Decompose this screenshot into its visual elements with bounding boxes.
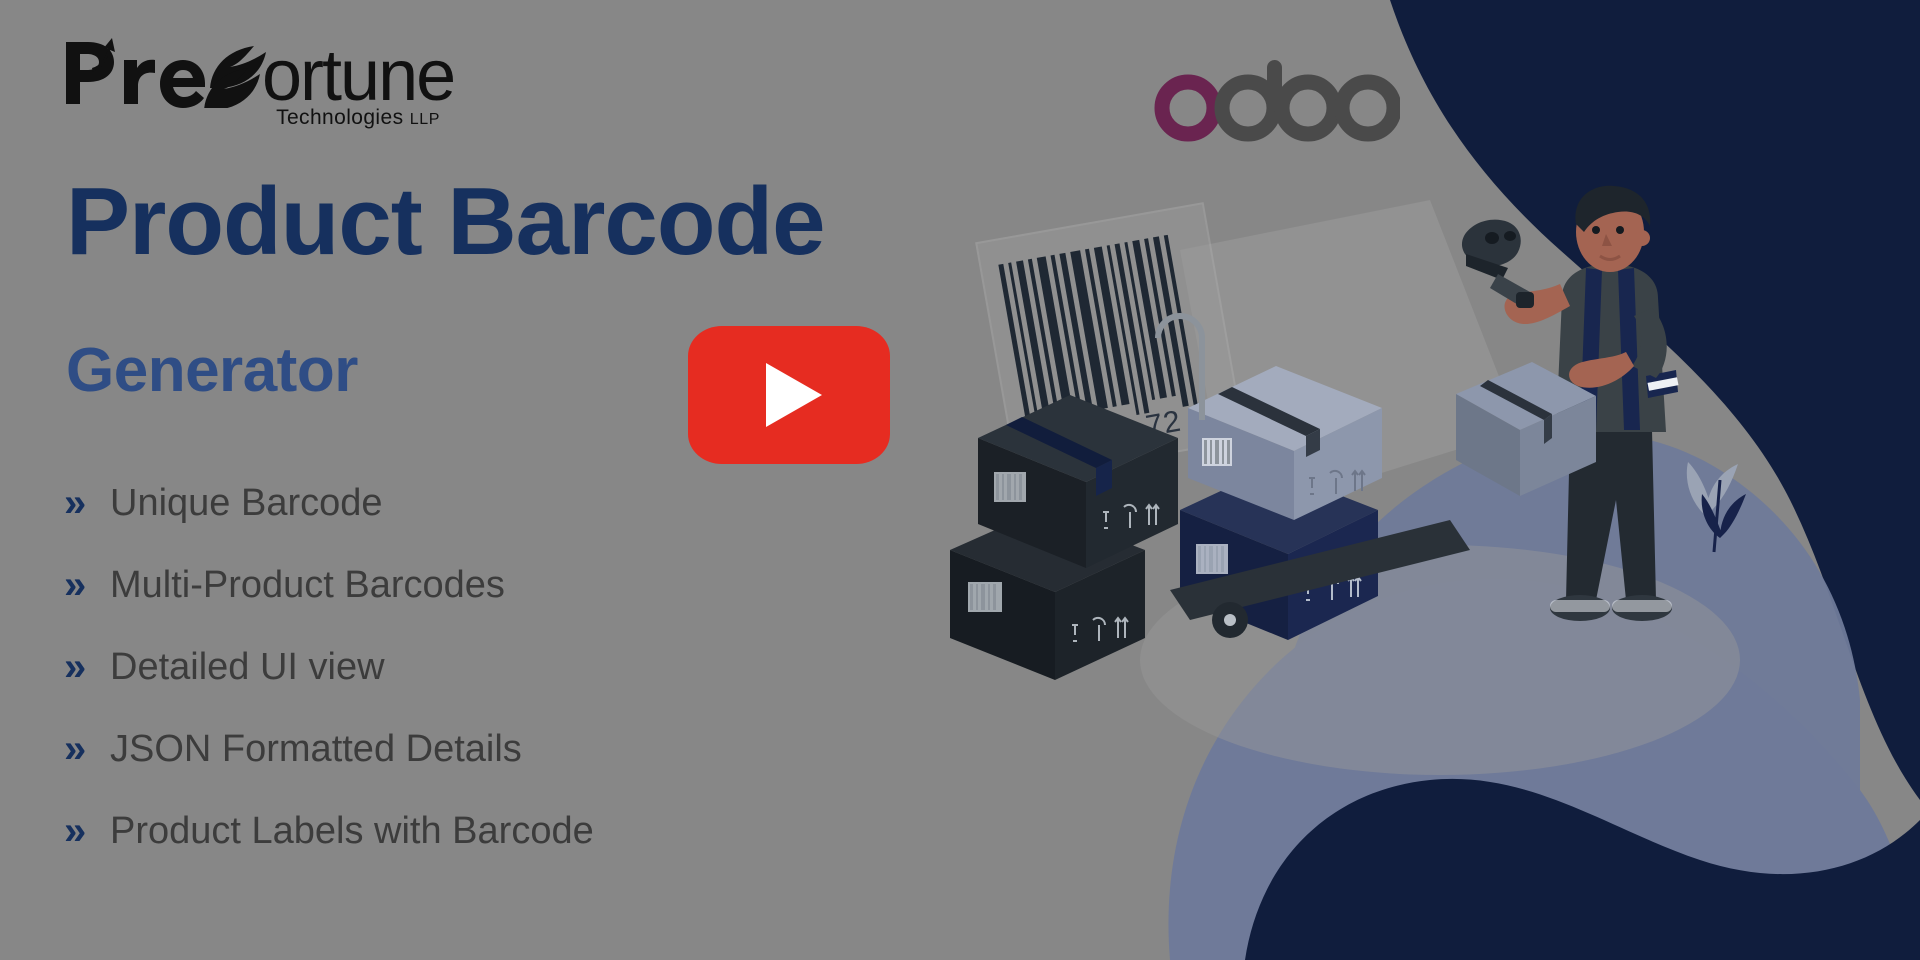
- feature-label: JSON Formatted Details: [110, 730, 522, 768]
- barcode-illustration: 950721 72: [930, 120, 1490, 680]
- feature-label: Multi-Product Barcodes: [110, 566, 505, 604]
- play-video-button[interactable]: [688, 326, 890, 464]
- brand-tagline-text: Technologies: [276, 106, 403, 129]
- list-item: » Multi-Product Barcodes: [64, 552, 824, 618]
- prefortune-logo-icon: ortune: [62, 28, 462, 108]
- promo-banner: ortune Technologies LLP Product Barcode …: [0, 0, 1920, 960]
- feature-label: Detailed UI view: [110, 648, 385, 686]
- brand-entity-type: LLP: [410, 111, 440, 128]
- list-item: » Detailed UI view: [64, 634, 824, 700]
- warehouse-worker-illustration: [1420, 180, 1800, 660]
- feature-label: Unique Barcode: [110, 484, 383, 522]
- list-item: » JSON Formatted Details: [64, 716, 824, 782]
- page-title: Product Barcode: [66, 172, 824, 273]
- double-chevron-icon: »: [64, 729, 110, 769]
- brand-tagline: Technologies LLP: [276, 106, 440, 130]
- page-subtitle: Generator: [66, 340, 358, 402]
- play-triangle-icon: [766, 363, 822, 427]
- brand-logo[interactable]: ortune Technologies LLP: [62, 28, 482, 140]
- double-chevron-icon: »: [64, 565, 110, 605]
- feature-list: » Unique Barcode » Multi-Product Barcode…: [64, 470, 824, 880]
- double-chevron-icon: »: [64, 483, 110, 523]
- list-item: » Product Labels with Barcode: [64, 798, 824, 864]
- list-item: » Unique Barcode: [64, 470, 824, 536]
- double-chevron-icon: »: [64, 811, 110, 851]
- svg-text:ortune: ortune: [262, 36, 454, 108]
- barcode-scanner-icon: [1462, 220, 1534, 308]
- plant-decoration: [1687, 462, 1746, 552]
- feature-label: Product Labels with Barcode: [110, 812, 594, 850]
- double-chevron-icon: »: [64, 647, 110, 687]
